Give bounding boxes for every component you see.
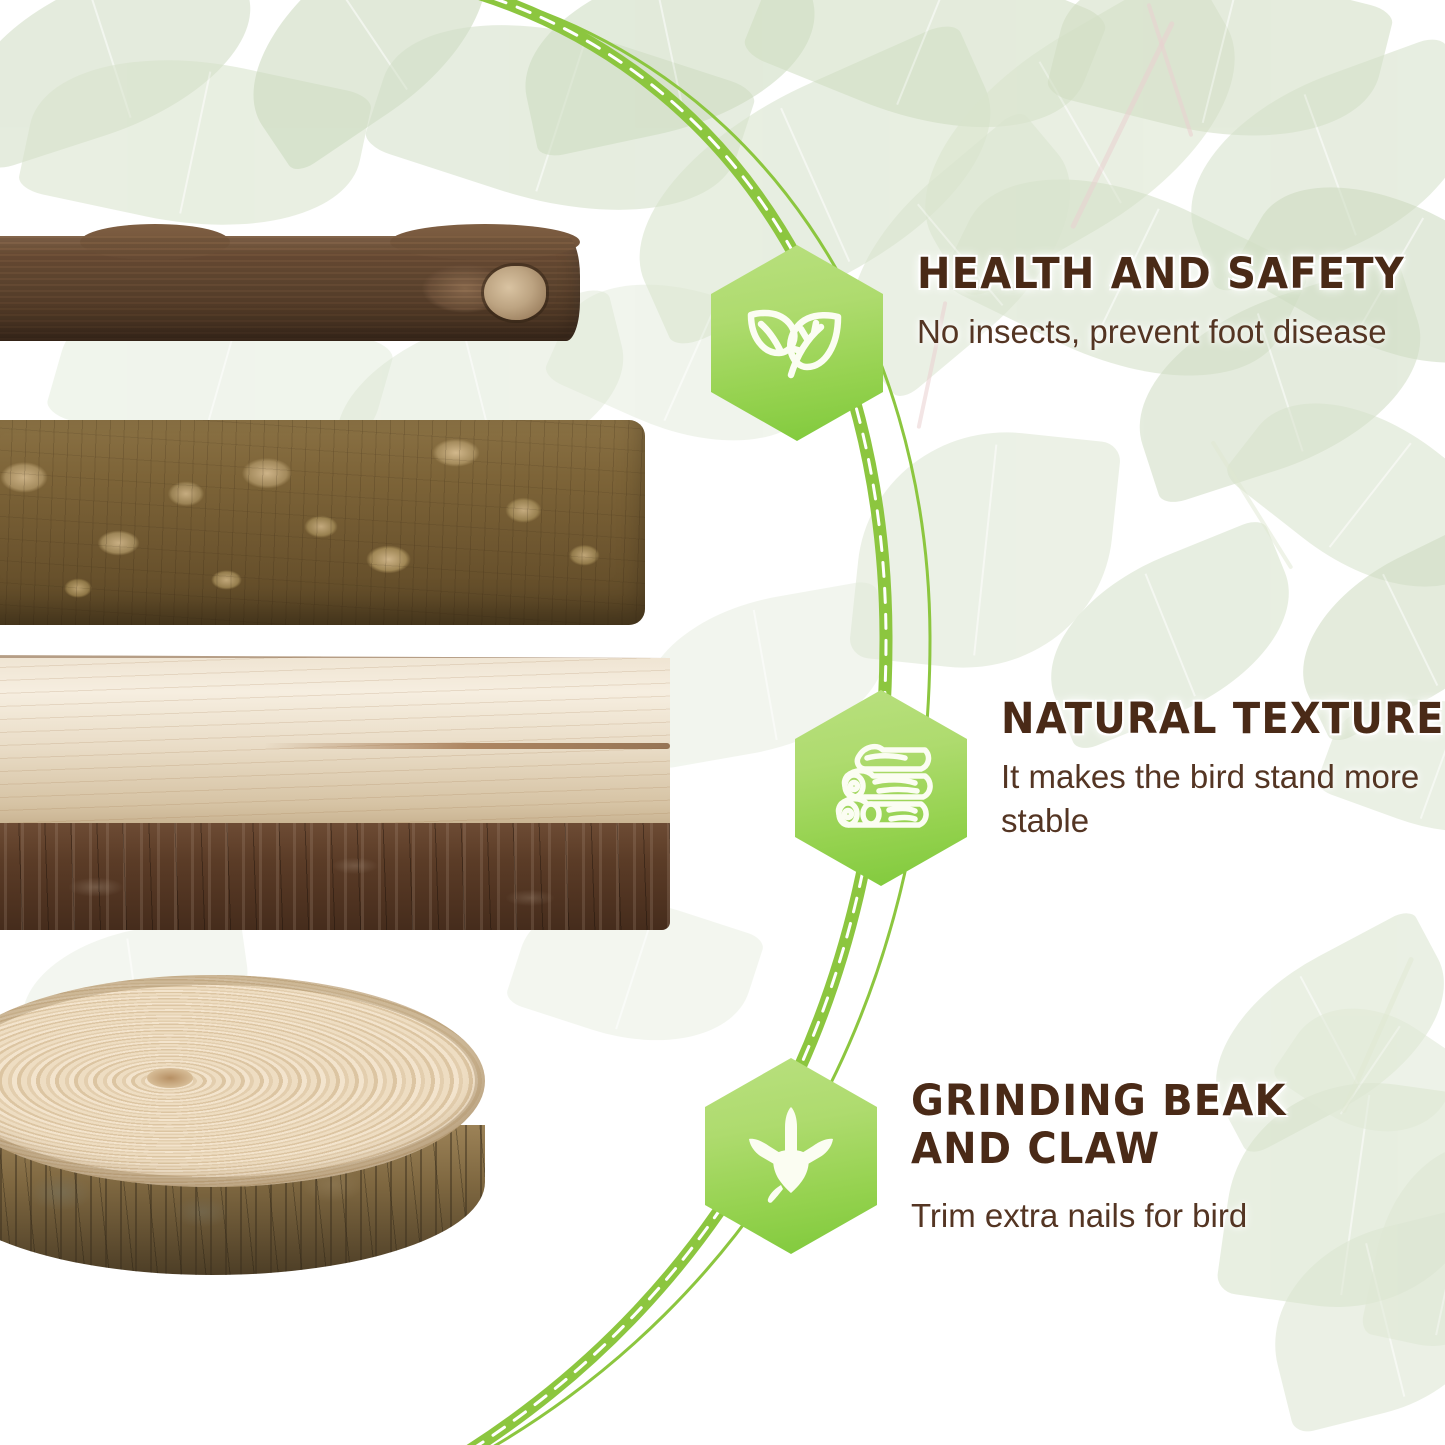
product-natural-branch-perch bbox=[0, 236, 580, 341]
leaf-decoration bbox=[507, 0, 834, 159]
bird-claw-icon bbox=[736, 1101, 846, 1211]
leaf-decoration bbox=[740, 0, 1110, 176]
stem-decoration bbox=[1341, 956, 1415, 1113]
stem-decoration bbox=[1146, 3, 1193, 137]
feature-row-health-and-safety: HEALTH AND SAFETY No insects, prevent fo… bbox=[711, 245, 1405, 441]
hexagon-badge bbox=[711, 245, 883, 441]
product-knobbly-bark-branch bbox=[0, 420, 645, 625]
feature-heading: GRINDING BEAK AND CLAW bbox=[911, 1078, 1311, 1174]
leaf-decoration bbox=[848, 418, 1122, 683]
logs-icon bbox=[821, 738, 941, 838]
feature-row-grinding-beak-and-claw: GRINDING BEAK AND CLAW Trim extra nails … bbox=[705, 1058, 1311, 1254]
hexagon-badge bbox=[795, 690, 967, 886]
feature-icon-badge bbox=[705, 1058, 877, 1254]
leaf-decoration bbox=[1045, 0, 1395, 171]
feature-body: It makes the bird stand more stable bbox=[1001, 755, 1445, 842]
feature-heading: HEALTH AND SAFETY bbox=[917, 251, 1405, 299]
leaf-decoration bbox=[1360, 1127, 1445, 1364]
leaf-decoration bbox=[212, 0, 528, 175]
feature-text-block: NATURAL TEXTURE It makes the bird stand … bbox=[1001, 690, 1445, 842]
feature-body: Trim extra nails for bird bbox=[911, 1194, 1311, 1238]
feature-row-natural-texture: NATURAL TEXTURE It makes the bird stand … bbox=[795, 690, 1445, 886]
product-round-wood-slice bbox=[0, 975, 485, 1275]
product-flat-wood-plank bbox=[0, 655, 670, 930]
infographic-canvas: HEALTH AND SAFETY No insects, prevent fo… bbox=[0, 0, 1445, 1445]
stem-decoration bbox=[1211, 440, 1294, 569]
leaf-decoration bbox=[362, 0, 758, 256]
stem-decoration bbox=[1070, 21, 1175, 230]
leaf-decoration bbox=[0, 0, 276, 173]
feature-icon-badge bbox=[795, 690, 967, 886]
feature-body: No insects, prevent foot disease bbox=[917, 310, 1387, 354]
feature-heading: NATURAL TEXTURE bbox=[1001, 696, 1445, 744]
leaves-icon bbox=[741, 293, 853, 393]
hexagon-badge bbox=[705, 1058, 877, 1254]
leaf-decoration bbox=[16, 27, 373, 257]
feature-icon-badge bbox=[711, 245, 883, 441]
feature-text-block: GRINDING BEAK AND CLAW Trim extra nails … bbox=[911, 1058, 1311, 1238]
feature-text-block: HEALTH AND SAFETY No insects, prevent fo… bbox=[917, 245, 1405, 354]
